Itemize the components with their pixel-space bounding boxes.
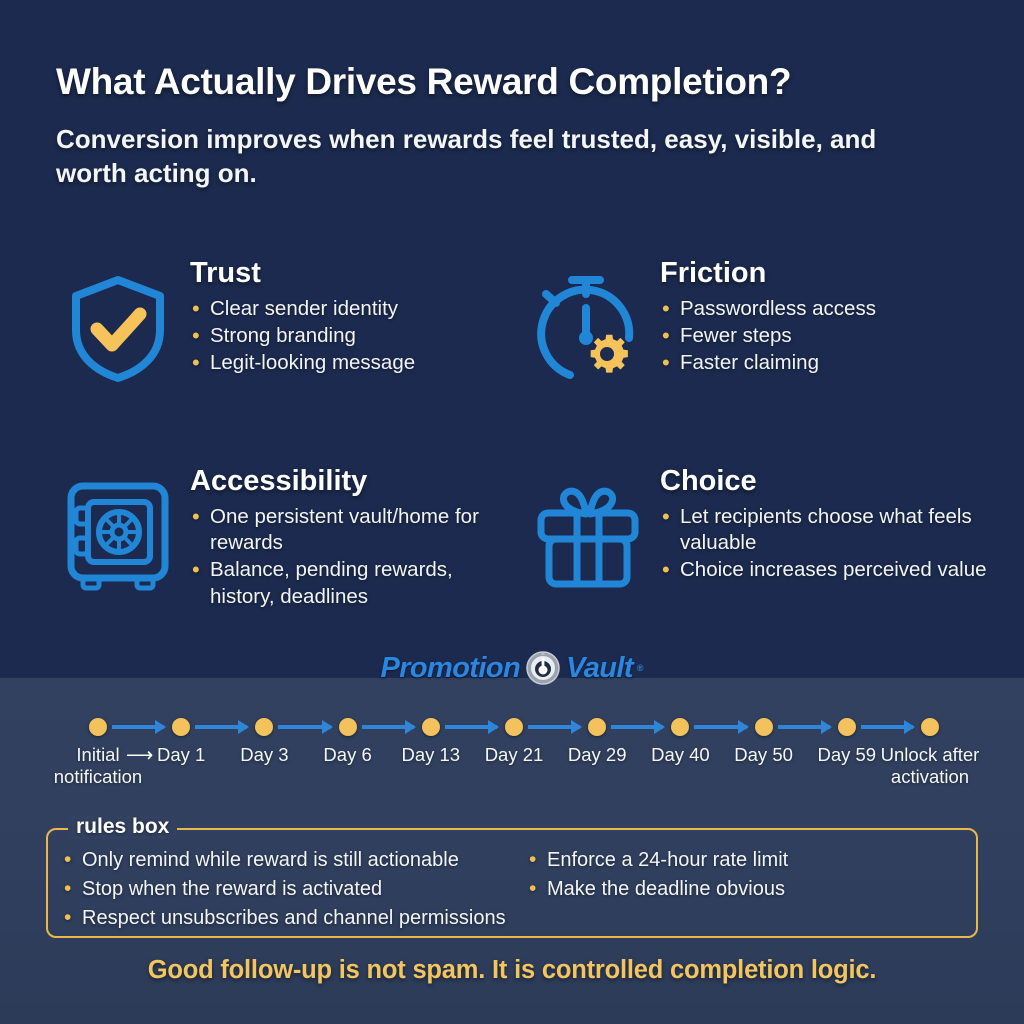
reminder-timeline: Initial notificationDay 1Day 3Day 6Day 1… [46,712,978,808]
timeline-arrow [278,725,330,729]
footer-tagline: Good follow-up is not spam. It is contro… [0,956,1024,985]
feature-heading: Trust [190,258,518,290]
timeline-label: Unlock after activation [870,744,990,788]
feature-heading: Friction [660,258,988,290]
timeline-dot [838,718,856,736]
feature-bullets: One persistent vault/home for rewards Ba… [190,504,518,610]
feature-heading: Choice [660,466,988,498]
timeline-arrow [861,725,913,729]
timeline-track [46,712,978,742]
timeline-arrow [778,725,830,729]
timeline-arrow [362,725,414,729]
feature-bullets: Let recipients choose what feels valuabl… [660,504,988,584]
timeline-dot [921,718,939,736]
brand-logo: Promotion Vault ® [0,650,1024,686]
feature-heading: Accessibility [190,466,518,498]
infographic-page: What Actually Drives Reward Completion? … [0,0,1024,1024]
gift-box-icon [518,466,658,611]
feature-body: Friction Passwordless access Fewer steps… [658,258,988,384]
timeline-arrow [112,725,164,729]
bullet-item: Passwordless access [660,296,988,322]
rule-item: Stop when the reward is activated [62,875,509,904]
timeline-dot [422,718,440,736]
bullet-item: Faster claiming [660,350,988,376]
shield-check-icon [48,258,188,384]
timeline-dot [588,718,606,736]
timeline-dot [255,718,273,736]
timeline-inline-arrow: ⟶ [126,744,153,767]
trademark-symbol: ® [637,663,644,673]
timeline-labels: Initial notificationDay 1Day 3Day 6Day 1… [46,744,978,808]
feature-card-friction: Friction Passwordless access Fewer steps… [518,258,988,384]
feature-card-choice: Choice Let recipients choose what feels … [518,466,988,611]
stopwatch-gear-icon [518,258,658,384]
vault-dial-emblem [525,650,561,686]
rules-column-left: Only remind while reward is still action… [62,846,509,933]
vault-safe-icon [48,466,188,611]
timeline-dot [671,718,689,736]
bullet-item: One persistent vault/home for rewards [190,504,518,556]
rule-item: Enforce a 24-hour rate limit [527,846,956,875]
logo-word-promotion: Promotion [380,652,520,685]
timeline-arrow [694,725,746,729]
feature-bullets: Passwordless access Fewer steps Faster c… [660,296,988,377]
bullet-item: Clear sender identity [190,296,518,322]
rules-column-right: Enforce a 24-hour rate limit Make the de… [509,846,956,933]
bullet-item: Legit-looking message [190,350,518,376]
bullet-item: Let recipients choose what feels valuabl… [660,504,988,556]
timeline-arrow [195,725,247,729]
timeline-dot [339,718,357,736]
bullet-item: Choice increases perceived value [660,557,988,583]
feature-body: Accessibility One persistent vault/home … [188,466,518,611]
timeline-dot [755,718,773,736]
feature-grid: Trust Clear sender identity Strong brand… [48,258,988,611]
page-subtitle: Conversion improves when rewards feel tr… [56,122,916,191]
bullet-item: Fewer steps [660,323,988,349]
bullet-item: Balance, pending rewards, history, deadl… [190,557,518,609]
feature-bullets: Clear sender identity Strong branding Le… [190,296,518,377]
logo-word-vault: Vault [566,652,633,685]
header: What Actually Drives Reward Completion? … [56,62,986,190]
timeline-arrow [528,725,580,729]
feature-body: Choice Let recipients choose what feels … [658,466,988,611]
timeline-arrow [611,725,663,729]
feature-card-trust: Trust Clear sender identity Strong brand… [48,258,518,384]
rules-box-legend: rules box [68,815,177,839]
timeline-arrow [445,725,497,729]
feature-row-2: Accessibility One persistent vault/home … [48,466,988,611]
feature-card-accessibility: Accessibility One persistent vault/home … [48,466,518,611]
rules-columns: Only remind while reward is still action… [48,830,976,933]
feature-row-1: Trust Clear sender identity Strong brand… [48,258,988,384]
bullet-item: Strong branding [190,323,518,349]
timeline-dot [89,718,107,736]
feature-body: Trust Clear sender identity Strong brand… [188,258,518,384]
page-title: What Actually Drives Reward Completion? [56,62,986,103]
rule-item: Only remind while reward is still action… [62,846,509,875]
timeline-dot [505,718,523,736]
rules-box: rules box Only remind while reward is st… [46,828,978,938]
rule-item: Make the deadline obvious [527,875,956,904]
timeline-dot [172,718,190,736]
rule-item: Respect unsubscribes and channel permiss… [62,904,509,933]
